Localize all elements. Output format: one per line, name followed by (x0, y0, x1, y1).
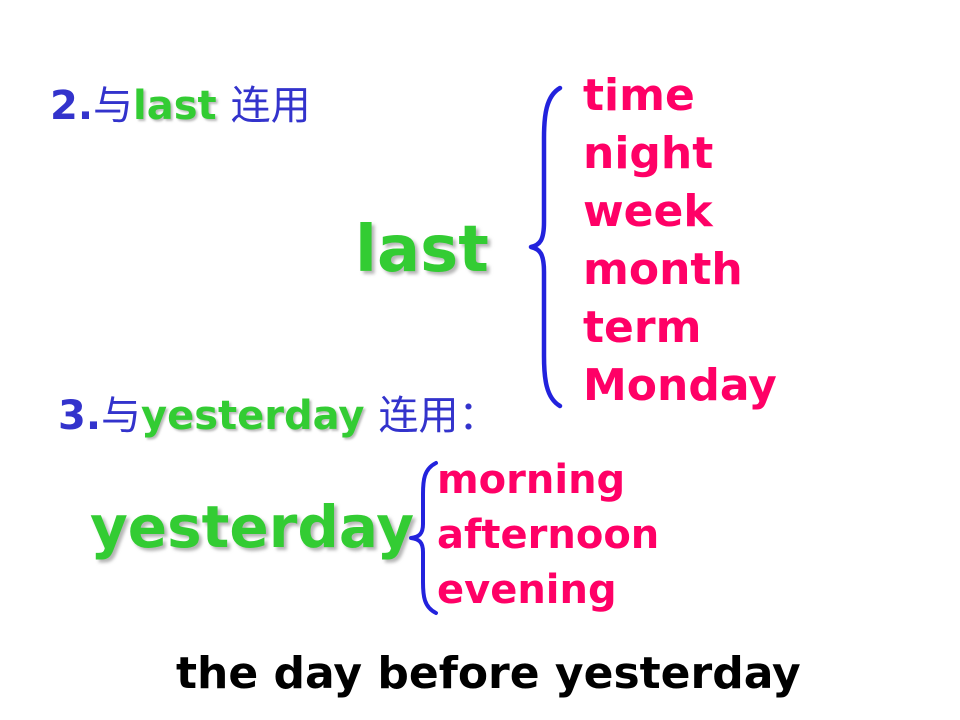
section2-heading: 2.与last连用 (50, 86, 311, 126)
list-item: Monday (583, 364, 777, 408)
section2-keyword: last (133, 83, 217, 129)
section2-big-word: last (355, 218, 489, 282)
section3-heading: 3.与yesterday连用： (58, 396, 499, 436)
list-item: evening (437, 570, 617, 610)
list-item: week (583, 190, 713, 234)
section2-item-list: time night week month term Monday (583, 74, 913, 414)
list-item: term (583, 306, 701, 350)
section2-brace (528, 82, 568, 412)
list-item: night (583, 132, 713, 176)
list-item: afternoon (437, 515, 659, 555)
slide-canvas: 2.与last连用 last time night week month ter… (0, 0, 960, 720)
list-item: time (583, 74, 695, 118)
section2-number: 2. (50, 83, 93, 129)
list-item: month (583, 248, 743, 292)
section3-item-list: morning afternoon evening (437, 460, 757, 620)
list-item: morning (437, 460, 625, 500)
section3-big-word: yesterday (90, 498, 414, 556)
section2-cjk-prefix: 与 (93, 83, 133, 129)
section3-cjk-prefix: 与 (101, 393, 141, 439)
section3-cjk-suffix: 连用： (379, 393, 499, 439)
section3-number: 3. (58, 393, 101, 439)
section2-cjk-suffix: 连用 (231, 83, 311, 129)
footer-phrase: the day before yesterday (176, 652, 801, 696)
section3-keyword: yesterday (141, 393, 364, 439)
